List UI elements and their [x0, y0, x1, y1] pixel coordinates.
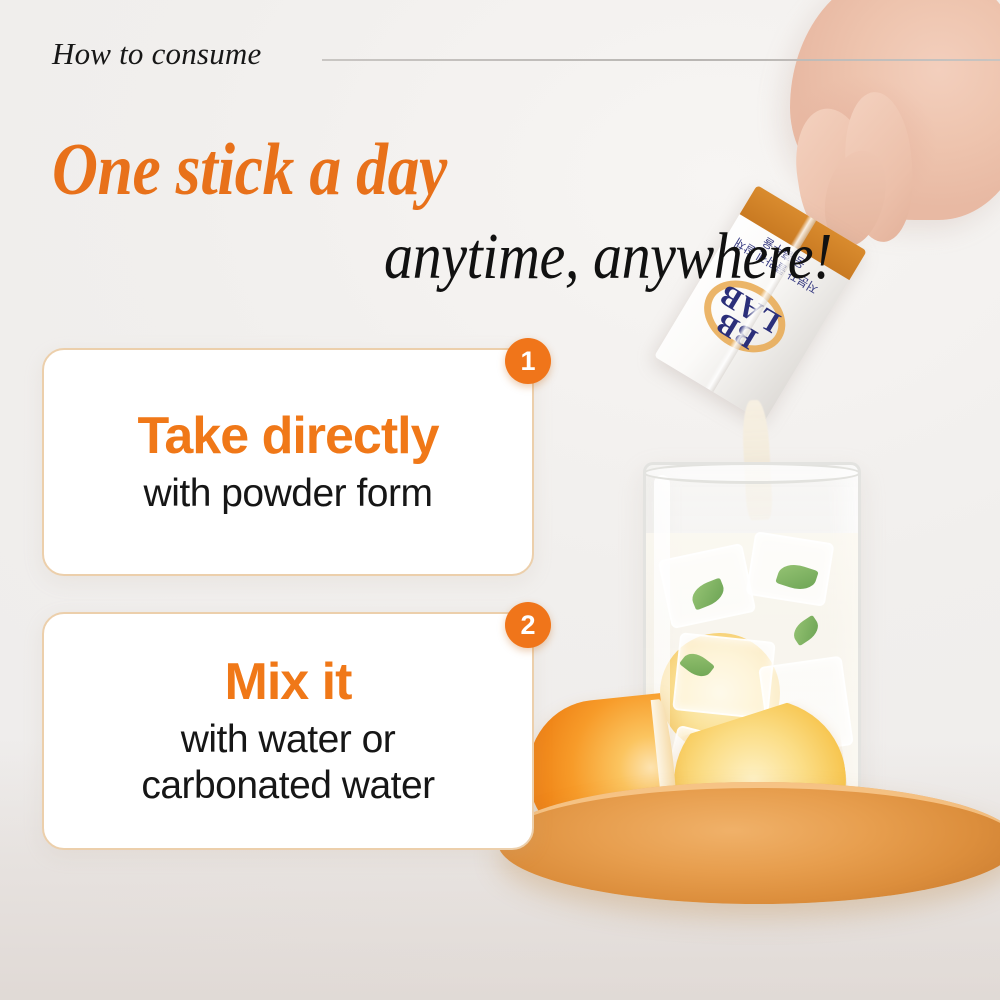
step-card-mix-it[interactable]: Mix it with water or carbonated water — [42, 612, 534, 850]
step-subtitle: with water or carbonated water — [141, 717, 434, 809]
step-badge-1: 1 — [505, 338, 551, 384]
step-title: Mix it — [225, 653, 352, 711]
step-title: Take directly — [137, 407, 438, 465]
infographic-page: 저분자 콜라겐 잘채움 흡수율 BB LAB How to consume On… — [0, 0, 1000, 1000]
step-card-content: Mix it with water or carbonated water — [44, 614, 532, 848]
step-badge-2: 2 — [505, 602, 551, 648]
step-card-take-directly[interactable]: Take directly with powder form — [42, 348, 534, 576]
headline-line-1: One stick a day — [52, 132, 723, 208]
page-title: One stick a day anytime, anywhere! — [52, 132, 832, 292]
headline-line-2: anytime, anywhere! — [146, 222, 832, 292]
section-eyebrow: How to consume — [52, 36, 261, 72]
glass-rim — [643, 462, 861, 484]
wooden-coaster — [498, 782, 1000, 904]
step-subtitle-line-1: with water or — [141, 717, 434, 763]
step-subtitle: with powder form — [144, 471, 433, 517]
step-subtitle-line-2: carbonated water — [141, 763, 434, 809]
header-divider — [322, 59, 1000, 61]
drinking-glass — [643, 462, 861, 834]
step-card-content: Take directly with powder form — [44, 350, 532, 574]
